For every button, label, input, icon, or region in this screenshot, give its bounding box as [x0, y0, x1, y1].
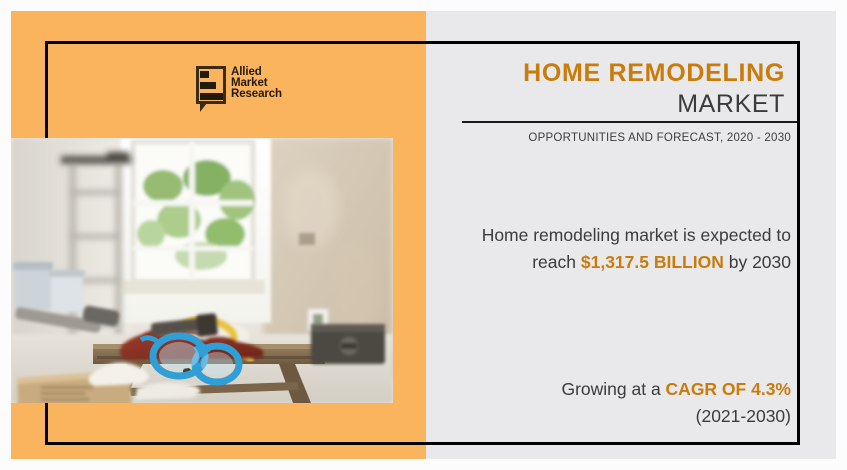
- title-line-1: HOME REMODELING: [455, 58, 785, 88]
- infographic-canvas: Allied Market Research: [0, 0, 847, 470]
- cagr-period: (2021-2030): [696, 406, 791, 426]
- logo-line-3: Research: [231, 89, 282, 100]
- forecast-suffix: by 2030: [724, 252, 791, 272]
- speech-bubble-bars-icon: [196, 66, 229, 112]
- page-subtitle: OPPORTUNITIES AND FORECAST, 2020 - 2030: [451, 132, 791, 144]
- remodeling-photo: [11, 138, 393, 403]
- title-divider: [462, 121, 797, 123]
- cagr-value: CAGR OF 4.3%: [666, 379, 791, 399]
- page-title: HOME REMODELING MARKET: [455, 58, 785, 120]
- forecast-value: $1,317.5 BILLION: [581, 252, 724, 272]
- allied-market-research-logo: Allied Market Research: [196, 66, 288, 118]
- title-line-2: MARKET: [455, 88, 785, 120]
- forecast-statement: Home remodeling market is expected to re…: [446, 222, 791, 276]
- remodeling-photo-illustration: [11, 138, 393, 403]
- cagr-prefix: Growing at a: [561, 379, 665, 399]
- cagr-statement: Growing at a CAGR OF 4.3% (2021-2030): [446, 376, 791, 430]
- logo-wordmark: Allied Market Research: [231, 67, 282, 101]
